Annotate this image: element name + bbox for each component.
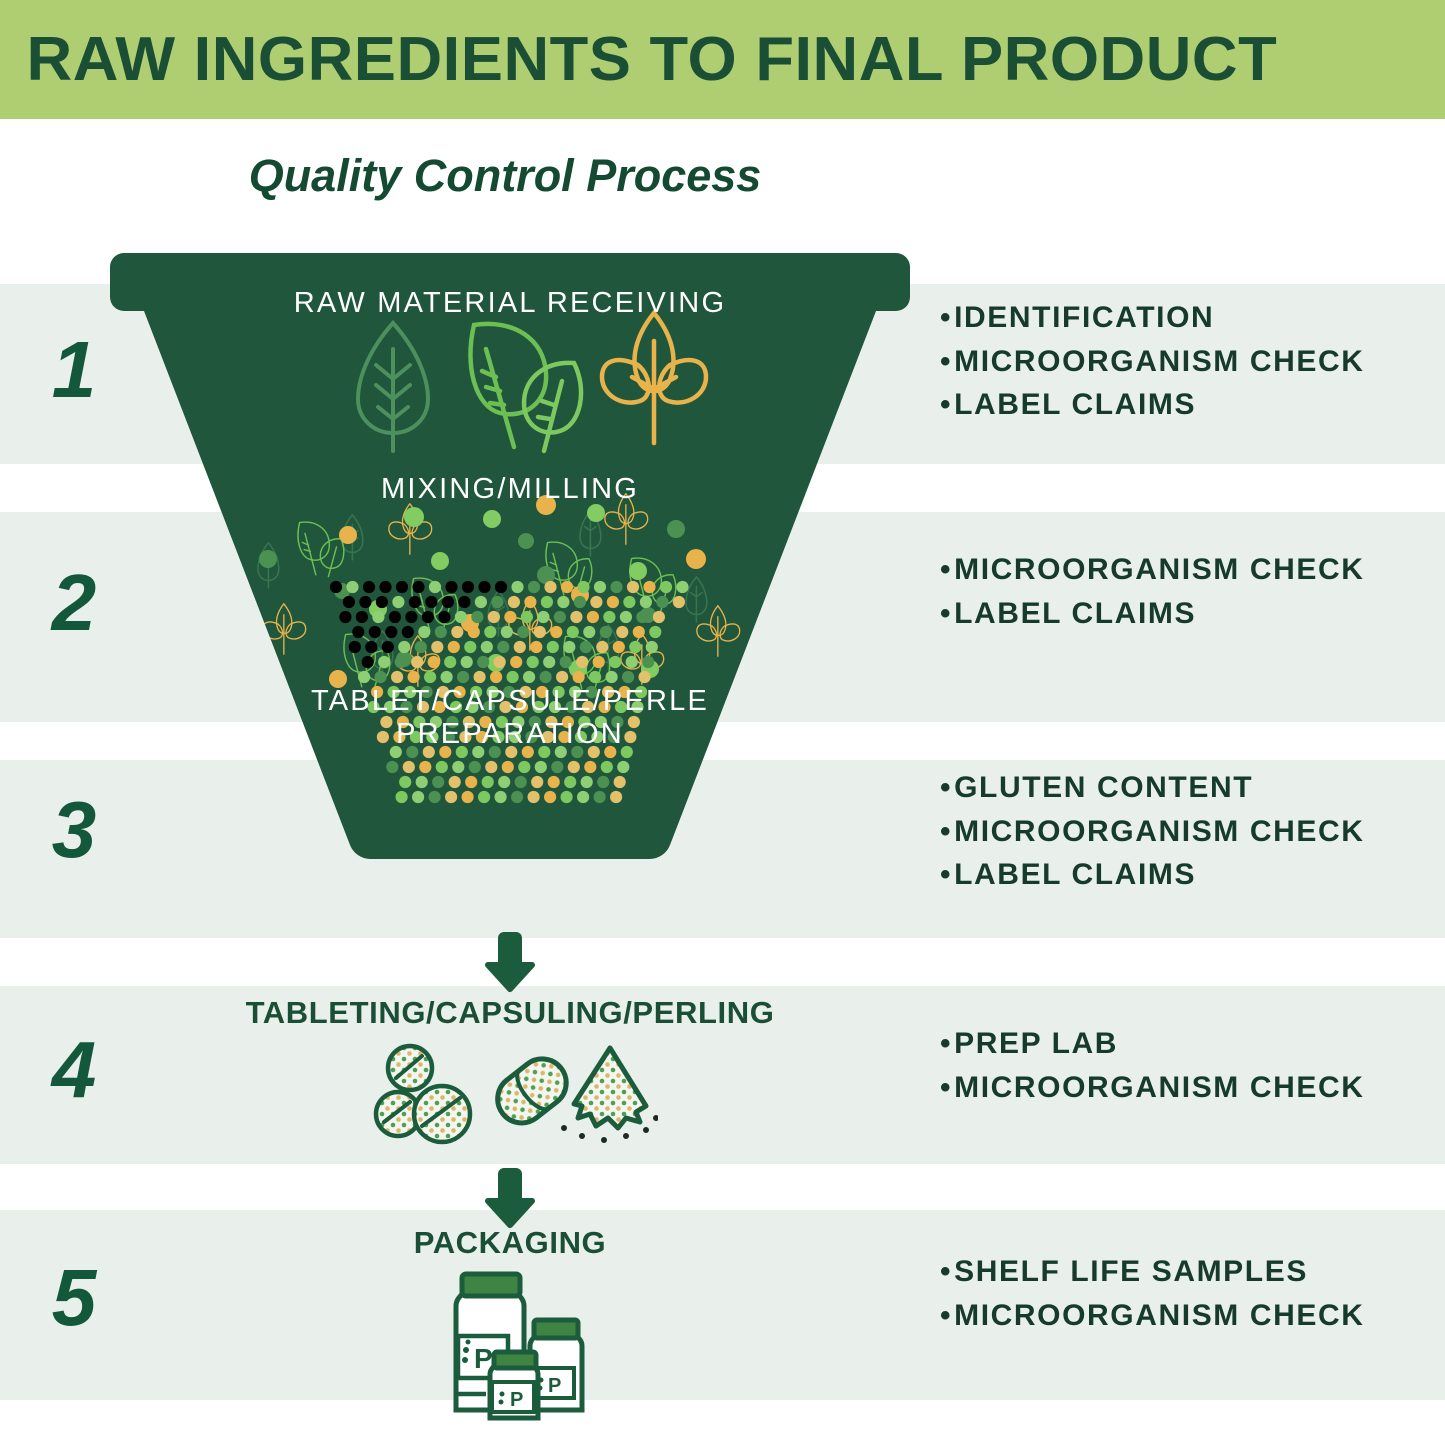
bullet-item: •LABEL CLAIMS — [940, 853, 1365, 897]
bullet-text: LABEL CLAIMS — [954, 853, 1196, 897]
bullet-item: •MICROORGANISM CHECK — [940, 548, 1365, 592]
bullet-item: •IDENTIFICATION — [940, 296, 1365, 340]
svg-text:P: P — [548, 1375, 561, 1397]
bullet-dot-icon: • — [940, 296, 952, 340]
step-number-2: 2 — [14, 563, 134, 643]
bullet-dot-icon: • — [940, 548, 952, 592]
capsule-icon — [488, 1049, 576, 1132]
bullet-item: •MICROORGANISM CHECK — [940, 810, 1365, 854]
step-number-4: 4 — [14, 1030, 134, 1110]
infographic-root: RAW INGREDIENTS TO FINAL PRODUCT Quality… — [0, 0, 1445, 1432]
bullet-text: LABEL CLAIMS — [954, 592, 1196, 636]
bullet-list-5: •SHELF LIFE SAMPLES •MICROORGANISM CHECK — [940, 1250, 1365, 1337]
bullet-text: MICROORGANISM CHECK — [954, 1294, 1364, 1338]
bullet-text: MICROORGANISM CHECK — [954, 1066, 1364, 1110]
bullet-list-4: •PREP LAB •MICROORGANISM CHECK — [940, 1022, 1365, 1109]
bullet-item: •GLUTEN CONTENT — [940, 766, 1365, 810]
bullet-item: •MICROORGANISM CHECK — [940, 1066, 1365, 1110]
bullet-text: MICROORGANISM CHECK — [954, 810, 1364, 854]
step-number-3: 3 — [14, 790, 134, 870]
stage-label-3-line1: TABLET/CAPSULE/PERLE — [110, 685, 910, 717]
stage-label-3-line2: PREPARATION — [110, 718, 910, 750]
bullet-item: •LABEL CLAIMS — [940, 592, 1365, 636]
down-arrow-icon-2 — [482, 1168, 538, 1230]
svg-text:P: P — [510, 1389, 523, 1411]
bullet-dot-icon: • — [940, 592, 952, 636]
bullet-dot-icon: • — [940, 340, 952, 384]
stage-label-4: TABLETING/CAPSULING/PERLING — [0, 995, 1020, 1031]
bullet-dot-icon: • — [940, 1066, 952, 1110]
step-number-1: 1 — [14, 330, 134, 410]
bullet-text: MICROORGANISM CHECK — [954, 340, 1364, 384]
page-subtitle: Quality Control Process — [0, 150, 1010, 202]
step-number-5: 5 — [14, 1258, 134, 1338]
funnel-graphic: RAW MATERIAL RECEIVING MIXING/MILLING TA… — [110, 245, 910, 900]
bullet-list-1: •IDENTIFICATION •MICROORGANISM CHECK •LA… — [940, 296, 1365, 427]
funnel-shape — [110, 245, 910, 900]
stage-4-icons — [368, 1034, 658, 1156]
page-title: RAW INGREDIENTS TO FINAL PRODUCT — [0, 24, 1277, 95]
bullet-text: IDENTIFICATION — [954, 296, 1214, 340]
bullet-dot-icon: • — [940, 810, 952, 854]
stage-label-1: RAW MATERIAL RECEIVING — [110, 287, 910, 319]
bullet-list-2: •MICROORGANISM CHECK •LABEL CLAIMS — [940, 548, 1365, 635]
bullet-list-3: •GLUTEN CONTENT •MICROORGANISM CHECK •LA… — [940, 766, 1365, 897]
bullet-text: LABEL CLAIMS — [954, 383, 1196, 427]
stage-label-2: MIXING/MILLING — [110, 473, 910, 505]
bullet-text: MICROORGANISM CHECK — [954, 548, 1364, 592]
supplement-bottles-icon: P P P — [432, 1270, 592, 1432]
stage-label-5: PACKAGING — [0, 1225, 1020, 1261]
bullet-dot-icon: • — [940, 383, 952, 427]
bullet-dot-icon: • — [940, 1294, 952, 1338]
bullet-dot-icon: • — [940, 766, 952, 810]
bullet-dot-icon: • — [940, 853, 952, 897]
down-arrow-icon-1 — [482, 932, 538, 994]
bullet-item: •LABEL CLAIMS — [940, 383, 1365, 427]
header-banner: RAW INGREDIENTS TO FINAL PRODUCT — [0, 0, 1445, 119]
bullet-text: GLUTEN CONTENT — [954, 766, 1253, 810]
bullet-item: •MICROORGANISM CHECK — [940, 340, 1365, 384]
powder-pile-icon — [561, 1048, 658, 1143]
bullet-item: •MICROORGANISM CHECK — [940, 1294, 1365, 1338]
